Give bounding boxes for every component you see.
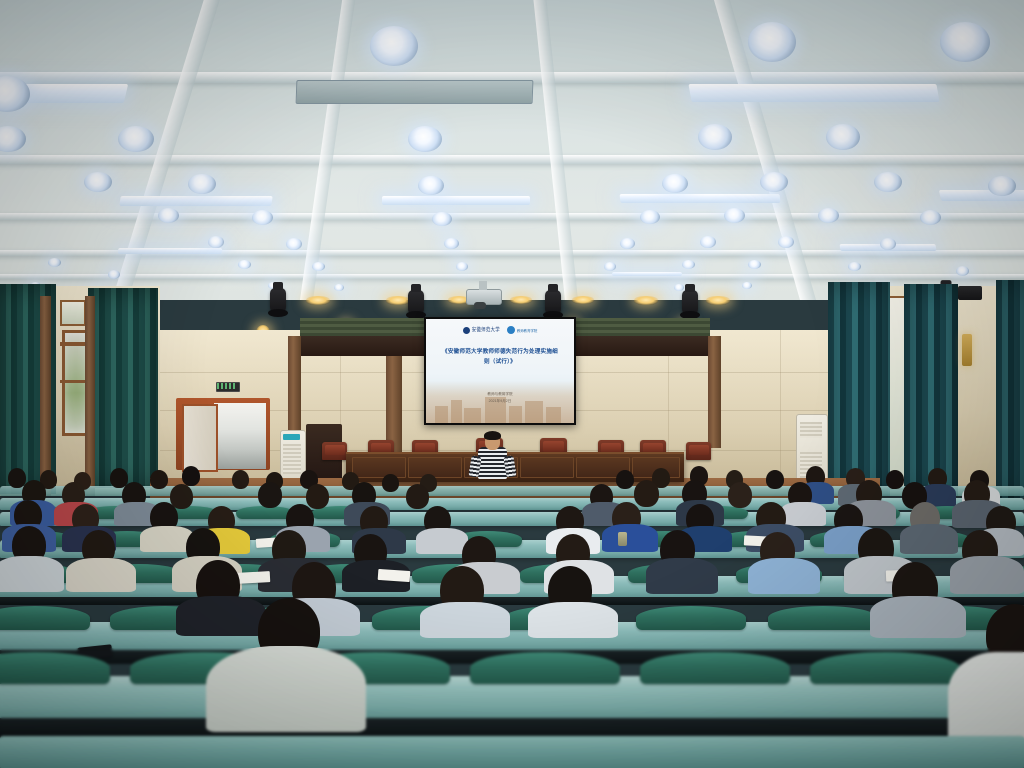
seat-back[interactable]	[768, 606, 878, 630]
presentation-slide: 安徽师范大学 教师教育学院 《安徽师范大学教师师德失范行为处理实施细 则（试行）…	[426, 319, 574, 423]
wall-wood-pilaster	[708, 336, 721, 448]
door-leaf[interactable]	[182, 404, 218, 472]
ceiling-light-panel	[382, 196, 530, 205]
stage-spotlight	[270, 288, 286, 314]
curtain-right-mid	[904, 284, 958, 496]
ceiling-light-panel	[118, 248, 223, 254]
window-frame-left	[40, 296, 51, 496]
left-window	[60, 300, 86, 326]
stage-spotlight	[682, 290, 698, 316]
seat-back[interactable]	[0, 606, 90, 630]
desk-paper	[236, 571, 271, 584]
stage-chair[interactable]	[686, 442, 711, 460]
wall-wood-pilaster	[386, 356, 402, 452]
ceiling-air-vent	[296, 80, 534, 104]
wall-dark-band	[570, 336, 712, 356]
stage-warm-downlight	[306, 296, 330, 305]
seat-back[interactable]	[810, 652, 960, 684]
seat-back[interactable]	[640, 652, 790, 684]
speaker-torso	[478, 447, 507, 479]
stage-chair[interactable]	[322, 442, 347, 460]
stage-warm-downlight	[572, 296, 594, 304]
ceiling-light-panel	[688, 84, 939, 102]
curtain-right-outer	[996, 280, 1024, 498]
university-logo-text: 安徽师范大学	[472, 327, 500, 335]
university-seal-icon	[463, 327, 470, 334]
university-logo: 安徽师范大学	[463, 327, 500, 334]
college-seal-icon	[507, 326, 515, 334]
exit-sign-text	[217, 383, 237, 389]
standing-ac-grill	[800, 422, 822, 438]
wall-slat-panel	[300, 318, 436, 336]
ceiling-light-panel	[612, 272, 682, 276]
stage-warm-downlight	[386, 296, 410, 305]
slide-title-line-2: 则（试行）》	[432, 357, 568, 367]
ceiling-projector	[466, 289, 502, 305]
window-frame-right	[85, 296, 95, 496]
ceiling-light-panel	[119, 196, 272, 206]
stage-warm-downlight	[634, 296, 658, 305]
ceiling-light-panel	[620, 194, 781, 203]
lecture-hall-photo: 安徽师范大学 教师教育学院 《安徽师范大学教师师德失范行为处理实施细 则（试行）…	[0, 0, 1024, 768]
wall-dark-band	[300, 336, 436, 356]
wall-speaker	[958, 286, 982, 300]
desk-cup	[618, 532, 627, 546]
stage-spotlight	[545, 290, 561, 316]
college-logo-text: 教师教育学院	[517, 328, 537, 333]
slide-footer-org: 教师与教育学院	[426, 391, 574, 398]
wall-slat-panel	[570, 318, 710, 336]
wall-sconce	[962, 334, 972, 366]
slide-title: 《安徽师范大学教师师德失范行为处理实施细 则（试行）》	[432, 347, 568, 368]
seat-back[interactable]	[470, 652, 620, 684]
slide-title-line-1: 《安徽师范大学教师师德失范行为处理实施细	[432, 347, 568, 357]
air-purifier-grill	[283, 444, 301, 474]
curtain-left-inner	[88, 288, 158, 488]
stage-warm-downlight	[706, 296, 730, 305]
air-purifier-badge	[283, 434, 300, 440]
desk-paper	[378, 569, 411, 582]
stage-warm-downlight	[510, 296, 532, 304]
college-logo: 教师教育学院	[507, 326, 537, 334]
door-opening[interactable]	[214, 403, 266, 469]
slide-footer: 教师与教育学院 2021年9月2日	[426, 391, 574, 405]
speaker-hair	[484, 431, 501, 440]
stage-spotlight	[408, 290, 424, 316]
curtain-right-inner	[828, 282, 890, 496]
slide-logos: 安徽师范大学 教师教育学院	[426, 326, 574, 334]
coffered-ceiling	[0, 0, 1024, 300]
seat-back[interactable]	[636, 606, 746, 630]
slide-footer-date: 2021年9月2日	[426, 398, 574, 405]
projection-screen[interactable]: 安徽师范大学 教师教育学院 《安徽师范大学教师师德失范行为处理实施细 则（试行）…	[424, 317, 576, 425]
desk-row-front-lip	[0, 736, 1024, 768]
